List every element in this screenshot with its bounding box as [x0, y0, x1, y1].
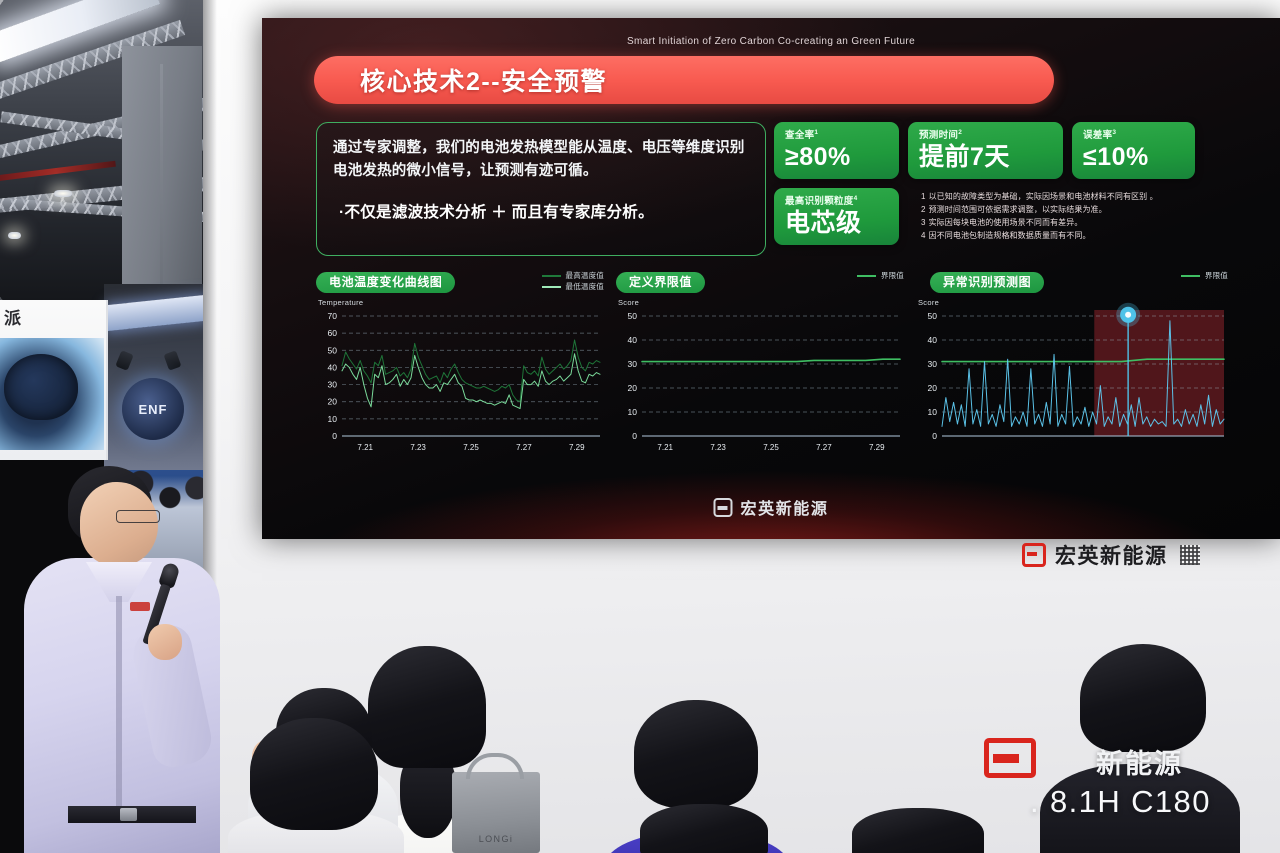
audience-hair	[640, 804, 768, 853]
wall-brand-logo: 宏英新能源	[1022, 540, 1200, 570]
presenter-chest-logo	[130, 602, 150, 611]
ceiling-red-pipe	[0, 161, 116, 182]
svg-text:7.23: 7.23	[710, 443, 726, 452]
legend-item: 最低温度值	[542, 281, 605, 292]
overlay-booth-number: . 8.1H C180	[1030, 784, 1211, 820]
footnote-list: 1以已知的故障类型为基础，实际因场景和电池材料不同有区别 。 2预测时间范围可依…	[921, 188, 1158, 243]
footnote-item: 1以已知的故障类型为基础，实际因场景和电池材料不同有区别 。	[921, 191, 1158, 204]
presenter-face	[80, 482, 158, 566]
metric-label: 误差率3	[1083, 129, 1185, 142]
metric-card-lead-time: 预测时间2 提前7天	[908, 122, 1063, 179]
svg-text:0: 0	[632, 431, 637, 441]
metric-value: 提前7天	[919, 144, 1053, 171]
svg-text:10: 10	[628, 407, 638, 417]
legend-swatch-threshold	[857, 275, 876, 277]
chart-title-tag: 电池温度变化曲线图	[316, 272, 455, 293]
company-logo-icon	[1022, 543, 1046, 567]
audience-hair	[250, 718, 378, 830]
metric-card-granularity: 最高识别颗粒度4 电芯级	[774, 188, 899, 245]
neighbor-poster-title: 派	[0, 302, 104, 336]
chart-header: 电池温度变化曲线图 最高温度值 最低温度值	[316, 272, 604, 294]
metrics-group: 查全率1 ≥80% 预测时间2 提前7天 误差率3 ≤10% 最高识别颗粒度4 …	[774, 122, 1226, 245]
legend-label: 最高温度值	[566, 270, 605, 281]
description-paragraph: 通过专家调整，我们的电池发热模型能从温度、电压等维度识别电池发热的微小信号，让预…	[333, 137, 749, 184]
chart-plot-area: 0102030405060707.217.237.257.277.29	[316, 310, 604, 460]
svg-text:10: 10	[928, 407, 938, 417]
metrics-row-bottom: 最高识别颗粒度4 电芯级 1以已知的故障类型为基础，实际因场景和电池材料不同有区…	[774, 188, 1226, 245]
legend-item: 界限值	[857, 270, 904, 281]
chart-header: 异常识别预测图 界限值	[916, 272, 1228, 294]
svg-text:7.29: 7.29	[869, 443, 885, 452]
metric-value: 电芯级	[785, 210, 889, 237]
svg-text:20: 20	[628, 383, 638, 393]
tote-bag-brand: LONGi	[452, 834, 540, 844]
chart-anomaly-prediction: 异常识别预测图 界限值 Score 01020304050	[916, 272, 1228, 484]
chart-threshold-definition: 定义界限值 界限值 Score 010203040507.217.237.257…	[616, 272, 904, 484]
chart-y-axis-label: Temperature	[318, 298, 363, 307]
overlay-brand-text: 新能源	[1096, 742, 1183, 781]
company-name: 宏英新能源	[740, 495, 828, 519]
chart-legend: 界限值	[1181, 270, 1228, 281]
footnote-item: 3实际因每块电池的使用场景不同而有差异。	[921, 217, 1158, 230]
ceiling-lamp	[54, 190, 72, 197]
metric-value: ≥80%	[785, 144, 889, 171]
metric-value: ≤10%	[1083, 144, 1185, 171]
svg-text:40: 40	[328, 362, 338, 372]
svg-text:7.27: 7.27	[516, 443, 532, 452]
metric-card-error-rate: 误差率3 ≤10%	[1072, 122, 1195, 179]
svg-text:0: 0	[332, 431, 337, 441]
audience-member	[228, 718, 404, 853]
audience-hair	[852, 808, 984, 853]
svg-text:40: 40	[628, 335, 638, 345]
chart-legend: 最高温度值 最低温度值	[542, 270, 605, 292]
presenter-shirt-placket	[116, 596, 122, 806]
slide-english-header: Smart Initiation of Zero Carbon Co-creat…	[262, 36, 1280, 47]
svg-text:7.21: 7.21	[657, 443, 673, 452]
svg-text:7.23: 7.23	[410, 443, 426, 452]
tote-bag: LONGi	[452, 772, 540, 853]
chart-plot-area: 01020304050	[916, 310, 1228, 460]
legend-label: 界限值	[1205, 270, 1228, 281]
presenter-speaker	[24, 466, 220, 853]
qr-code-icon	[1180, 545, 1200, 565]
audience-hair	[1080, 644, 1206, 752]
audience-hair	[634, 700, 758, 808]
projected-slide: Smart Initiation of Zero Carbon Co-creat…	[262, 18, 1280, 539]
slide-title-banner: 核心技术2--安全预警	[314, 56, 1054, 104]
chart-legend: 界限值	[857, 270, 904, 281]
svg-text:7.25: 7.25	[763, 443, 779, 452]
legend-item: 最高温度值	[542, 270, 605, 281]
svg-text:50: 50	[628, 311, 638, 321]
metric-label: 预测时间2	[919, 129, 1053, 142]
ceiling-lamp	[8, 232, 21, 239]
slide-title-text: 核心技术2--安全预警	[360, 62, 607, 98]
chart-title-tag: 定义界限值	[616, 272, 705, 293]
svg-text:30: 30	[928, 359, 938, 369]
description-card: 通过专家调整，我们的电池发热模型能从温度、电压等维度识别电池发热的微小信号，让预…	[316, 122, 766, 256]
legend-swatch-threshold	[1181, 275, 1200, 277]
legend-label: 最低温度值	[566, 281, 605, 292]
footnote-item: 2预测时间范围可依据需求调整，以实际结果为准。	[921, 204, 1158, 217]
company-name: 宏英新能源	[1055, 540, 1168, 570]
legend-item: 界限值	[1181, 270, 1228, 281]
svg-text:60: 60	[328, 328, 338, 338]
presenter-hand	[148, 624, 182, 660]
metric-label: 最高识别颗粒度4	[785, 195, 889, 208]
svg-text:7.21: 7.21	[357, 443, 373, 452]
svg-text:70: 70	[328, 311, 338, 321]
description-bullet: ·不仅是滤波技术分析 ＋ 而且有专家库分析。	[333, 200, 749, 222]
svg-text:40: 40	[928, 335, 938, 345]
svg-text:10: 10	[328, 414, 338, 424]
legend-swatch-min	[542, 286, 561, 288]
glasses-icon	[116, 510, 160, 523]
svg-text:7.25: 7.25	[463, 443, 479, 452]
charts-row: 电池温度变化曲线图 最高温度值 最低温度值 Temperature	[316, 272, 1228, 484]
audience-member	[852, 808, 984, 853]
chart-plot-area: 010203040507.217.237.257.277.29	[616, 310, 904, 460]
chart-y-axis-label: Score	[918, 298, 939, 307]
chart-title-tag: 异常识别预测图	[930, 272, 1044, 293]
legend-swatch-max	[542, 275, 561, 277]
audience-member	[640, 804, 768, 853]
company-logo-icon	[713, 498, 732, 517]
exhibition-presentation-photo: 派 ENF Smart Initiation of Zero Carbon Co…	[0, 0, 1280, 853]
svg-text:30: 30	[328, 380, 338, 390]
overlay-brand-logo-icon	[984, 738, 1036, 778]
svg-text:7.27: 7.27	[816, 443, 832, 452]
svg-text:50: 50	[928, 311, 938, 321]
svg-text:7.29: 7.29	[569, 443, 585, 452]
chart-header: 定义界限值 界限值	[616, 272, 904, 294]
neighbor-booth-poster-image	[0, 338, 104, 450]
svg-text:50: 50	[328, 345, 338, 355]
svg-text:20: 20	[328, 397, 338, 407]
slide-footer-logo: 宏英新能源	[713, 495, 828, 519]
neighbor-booth-logo: ENF	[122, 378, 184, 440]
svg-text:0: 0	[932, 431, 937, 441]
metric-card-recall: 查全率1 ≥80%	[774, 122, 899, 179]
chart-y-axis-label: Score	[618, 298, 639, 307]
svg-text:20: 20	[928, 383, 938, 393]
metrics-row-top: 查全率1 ≥80% 预测时间2 提前7天 误差率3 ≤10%	[774, 122, 1226, 179]
chart-battery-temperature: 电池温度变化曲线图 最高温度值 最低温度值 Temperature	[316, 272, 604, 484]
metric-label: 查全率1	[785, 129, 889, 142]
presenter-belt-buckle	[120, 808, 137, 821]
svg-text:30: 30	[628, 359, 638, 369]
legend-label: 界限值	[881, 270, 904, 281]
footnote-item: 4因不同电池包制造规格和数据质量而有不同。	[921, 230, 1158, 243]
